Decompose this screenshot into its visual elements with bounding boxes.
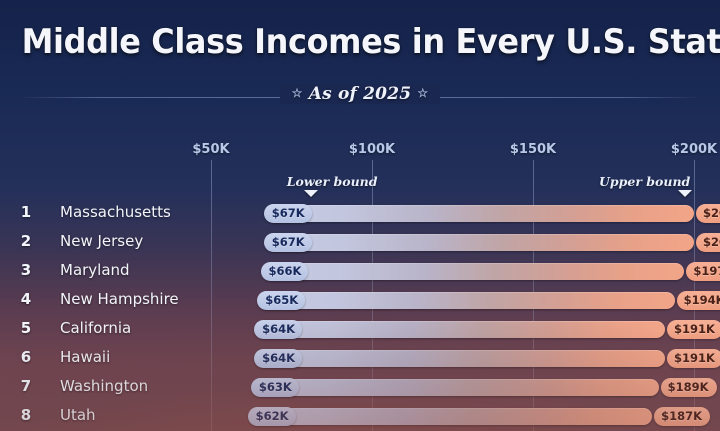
row-rank: 3 — [14, 261, 38, 279]
upper-bound-value: $194K — [677, 291, 720, 310]
row-rank: 8 — [14, 406, 38, 424]
subtitle-wrap: ☆ As of 2025 ☆ — [0, 84, 720, 104]
range-bar — [256, 321, 665, 338]
range-bar — [253, 379, 659, 396]
lower-bound-value: $64K — [254, 349, 302, 368]
table-row: 7Washington$63K$189K — [0, 374, 720, 403]
upper-bound-value: $200K — [696, 204, 720, 223]
upper-bound-value: $191K — [667, 349, 720, 368]
lower-bound-value: $66K — [261, 262, 309, 281]
row-state-name: New Hampshire — [60, 290, 179, 308]
upper-bound-arrow-icon — [678, 190, 692, 197]
lower-bound-value: $64K — [254, 320, 302, 339]
lower-bound-value: $67K — [264, 233, 312, 252]
row-state-name: Hawaii — [60, 348, 110, 366]
range-bar — [266, 234, 694, 251]
range-bar — [259, 292, 674, 309]
star-left-icon: ☆ — [292, 86, 303, 100]
range-bar — [263, 263, 685, 280]
state-rows: 1Massachusetts$67K$200K2New Jersey$67K$2… — [0, 200, 720, 431]
row-rank: 4 — [14, 290, 38, 308]
row-state-name: Washington — [60, 377, 148, 395]
axis-tick-label: $100K — [349, 142, 395, 157]
infographic-canvas: Middle Class Incomes in Every U.S. State… — [0, 0, 720, 431]
upper-bound-value: $189K — [661, 378, 717, 397]
page-title: Middle Class Incomes in Every U.S. State — [22, 22, 699, 62]
lower-bound-value: $62K — [248, 407, 296, 426]
row-rank: 6 — [14, 348, 38, 366]
row-rank: 5 — [14, 319, 38, 337]
range-bar — [266, 205, 694, 222]
table-row: 4New Hampshire$65K$194K — [0, 287, 720, 316]
lower-bound-value: $65K — [257, 291, 305, 310]
row-state-name: Utah — [60, 406, 96, 424]
upper-bound-callout: Upper bound — [599, 174, 690, 189]
row-state-name: New Jersey — [60, 232, 143, 250]
axis-tick-label: $200K — [671, 142, 717, 157]
axis-tick-label: $50K — [192, 142, 229, 157]
range-bar — [256, 350, 665, 367]
lower-bound-callout: Lower bound — [287, 174, 378, 189]
lower-bound-arrow-icon — [304, 190, 318, 197]
subtitle: ☆ As of 2025 ☆ — [280, 84, 441, 104]
row-state-name: Massachusetts — [60, 203, 171, 221]
upper-bound-value: $187K — [654, 407, 710, 426]
lower-bound-value: $67K — [264, 204, 312, 223]
axis-tick-label: $150K — [510, 142, 556, 157]
table-row: 6Hawaii$64K$191K — [0, 345, 720, 374]
row-rank: 1 — [14, 203, 38, 221]
range-bar — [250, 408, 653, 425]
table-row: 5California$64K$191K — [0, 316, 720, 345]
table-row: 8Utah$62K$187K — [0, 403, 720, 431]
upper-bound-value: $191K — [667, 320, 720, 339]
table-row: 2New Jersey$67K$200K — [0, 229, 720, 258]
upper-bound-value: $200K — [696, 233, 720, 252]
row-rank: 7 — [14, 377, 38, 395]
table-row: 1Massachusetts$67K$200K — [0, 200, 720, 229]
header: Middle Class Incomes in Every U.S. State… — [0, 0, 720, 120]
row-state-name: California — [60, 319, 131, 337]
table-row: 3Maryland$66K$197K — [0, 258, 720, 287]
lower-bound-value: $63K — [251, 378, 299, 397]
upper-bound-value: $197K — [686, 262, 720, 281]
subtitle-text: As of 2025 — [309, 84, 412, 104]
row-state-name: Maryland — [60, 261, 130, 279]
star-right-icon: ☆ — [417, 86, 428, 100]
row-rank: 2 — [14, 232, 38, 250]
